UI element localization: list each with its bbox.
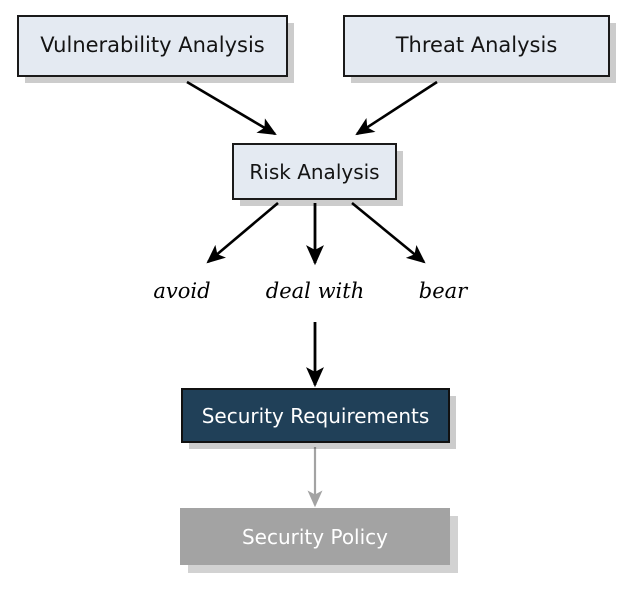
option-label-avoid: avoid [153,279,210,303]
node-security-requirements-label: Security Requirements [202,405,430,427]
node-security-requirements[interactable]: Security Requirements [181,388,450,443]
node-vulnerability-analysis-label: Vulnerability Analysis [40,34,265,57]
node-vulnerability-analysis[interactable]: Vulnerability Analysis [17,15,288,77]
node-security-policy-label: Security Policy [242,526,388,548]
node-risk-analysis-label: Risk Analysis [249,161,379,183]
edge-risk-to-bear [352,203,424,262]
diagram-canvas: Vulnerability Analysis Threat Analysis R… [0,0,638,595]
edge-risk-to-avoid [208,203,278,262]
node-risk-analysis[interactable]: Risk Analysis [232,143,397,200]
option-label-deal-with: deal with [266,279,364,303]
edge-threat-to-risk [357,82,437,134]
edge-vulnerability-to-risk [187,82,275,134]
node-security-policy[interactable]: Security Policy [180,508,450,565]
node-threat-analysis-label: Threat Analysis [396,34,558,57]
node-threat-analysis[interactable]: Threat Analysis [343,15,610,77]
option-label-bear: bear [419,279,467,303]
